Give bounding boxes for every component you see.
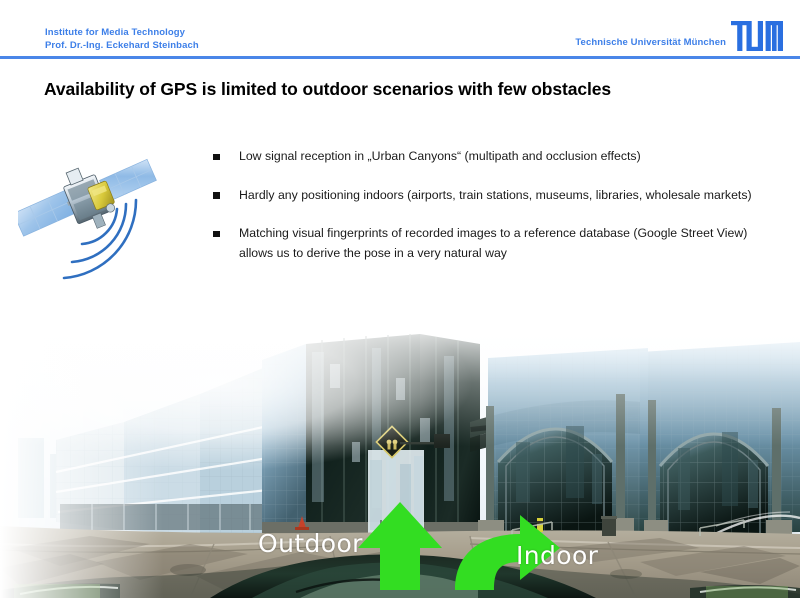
list-item-text: Hardly any positioning indoors (airports… bbox=[239, 186, 773, 206]
gps-satellite-icon bbox=[18, 158, 193, 283]
square-bullet-icon bbox=[213, 231, 220, 238]
list-item: Hardly any positioning indoors (airports… bbox=[213, 186, 773, 206]
list-item: Matching visual fingerprints of recorded… bbox=[213, 224, 773, 263]
page-title: Availability of GPS is limited to outdoo… bbox=[44, 78, 754, 100]
bullet-list: Low signal reception in „Urban Canyons“ … bbox=[213, 147, 773, 263]
indoor-curved-arrow-icon bbox=[455, 515, 560, 590]
header-divider bbox=[0, 56, 800, 59]
professor-name: Prof. Dr.-Ing. Eckehard Steinbach bbox=[45, 40, 199, 53]
institute-name: Institute for Media Technology bbox=[45, 27, 199, 40]
list-item-text: Matching visual fingerprints of recorded… bbox=[239, 224, 773, 263]
outdoor-straight-arrow-icon bbox=[358, 502, 442, 590]
slide-header: Institute for Media Technology Prof. Dr.… bbox=[0, 0, 800, 60]
list-item-text: Low signal reception in „Urban Canyons“ … bbox=[239, 147, 773, 167]
square-bullet-icon bbox=[213, 192, 220, 199]
university-name: Technische Universität München bbox=[575, 37, 726, 48]
square-bullet-icon bbox=[213, 154, 220, 161]
street-panorama-photo bbox=[0, 322, 800, 598]
list-item: Low signal reception in „Urban Canyons“ … bbox=[213, 147, 773, 167]
slide: Institute for Media Technology Prof. Dr.… bbox=[0, 0, 800, 598]
institute-affiliation: Institute for Media Technology Prof. Dr.… bbox=[45, 27, 199, 52]
tum-logo-icon bbox=[731, 21, 783, 51]
